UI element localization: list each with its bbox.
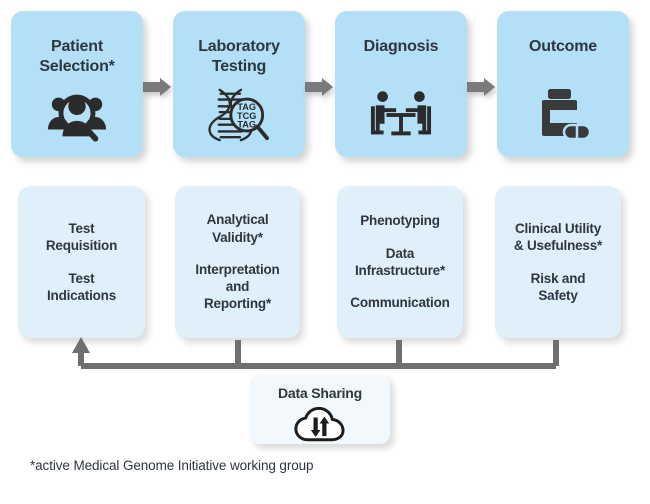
genomic-medicine-workflow-diagram: Patient Selection* — [0, 0, 650, 504]
people-search-icon — [46, 87, 108, 143]
dna-letter-3: TAG — [237, 120, 256, 130]
stage-box-diagnosis[interactable]: Diagnosis — [335, 11, 467, 157]
feedback-arrowhead — [72, 337, 90, 353]
arrow-lab-to-diagnosis — [305, 78, 333, 96]
topic-line: Data Infrastructure* — [355, 245, 445, 280]
consultation-table-icon — [370, 87, 432, 143]
topic-line: Analytical Validity* — [207, 211, 269, 246]
topic-line: Phenotyping — [360, 212, 440, 229]
dna-magnifier-icon: TAG TCG TAG — [208, 87, 270, 143]
topic-box-analytical-validity[interactable]: Analytical Validity* Interpretation and … — [175, 186, 300, 338]
topic-box-phenotyping[interactable]: Phenotyping Data Infrastructure* Communi… — [337, 186, 463, 338]
footnote-text: *active Medical Genome Initiative workin… — [30, 458, 313, 473]
arrow-diagnosis-to-outcome — [467, 78, 495, 96]
cloud-sync-icon — [294, 405, 346, 443]
data-sharing-box[interactable]: Data Sharing — [250, 374, 390, 444]
topic-line: Interpretation and Reporting* — [195, 261, 279, 313]
topic-line: Test Indications — [47, 270, 116, 305]
arrow-patient-to-lab — [143, 78, 171, 96]
topic-line: Risk and Safety — [531, 270, 586, 305]
topic-line: Clinical Utility & Usefulness* — [514, 220, 602, 255]
stage-title-diagnosis: Diagnosis — [358, 37, 445, 57]
stage-box-outcome[interactable]: Outcome — [497, 11, 629, 157]
stage-box-laboratory-testing[interactable]: Laboratory Testing TAG TCG TAG — [173, 11, 305, 157]
stage-title-patient-selection: Patient Selection* — [33, 37, 120, 77]
topic-box-clinical-utility[interactable]: Clinical Utility & Usefulness* Risk and … — [495, 186, 621, 338]
pill-bottle-icon — [532, 87, 594, 143]
stage-title-laboratory-testing: Laboratory Testing — [192, 37, 286, 77]
topic-line: Communication — [350, 294, 449, 311]
data-sharing-label: Data Sharing — [278, 385, 362, 401]
topic-line: Test Requisition — [46, 220, 117, 255]
topic-box-test-requisition[interactable]: Test Requisition Test Indications — [18, 186, 145, 338]
stage-title-outcome: Outcome — [523, 37, 603, 57]
stage-box-patient-selection[interactable]: Patient Selection* — [11, 11, 143, 157]
